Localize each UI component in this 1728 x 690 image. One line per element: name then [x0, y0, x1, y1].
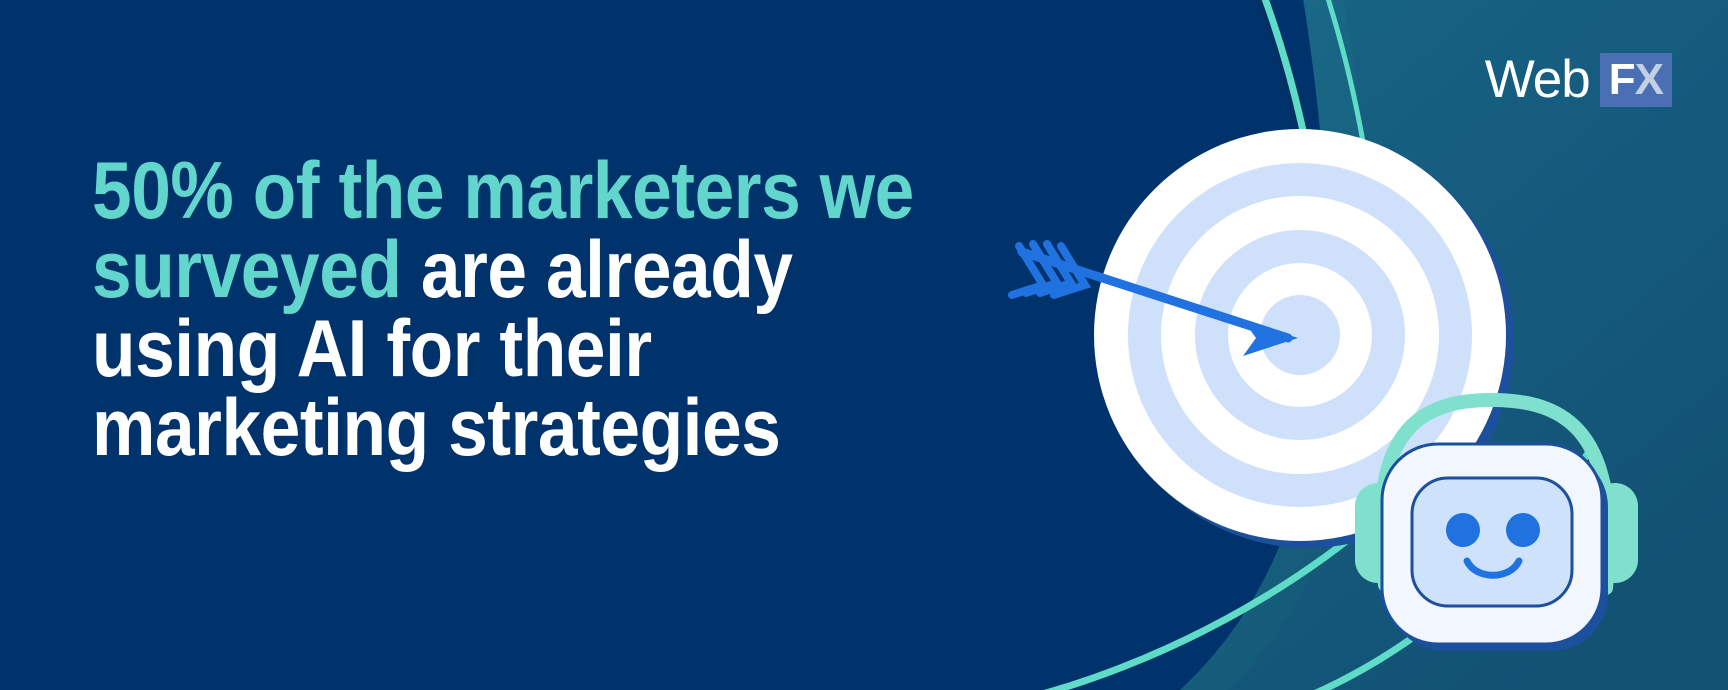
robot-eye-left	[1446, 513, 1480, 547]
logo-web-text: Web	[1485, 52, 1590, 108]
headline: 50% of the marketers we surveyed are alr…	[92, 152, 937, 468]
logo-fx-box: FX	[1600, 53, 1672, 107]
logo-f-glyph: F	[1609, 55, 1635, 104]
logo-fx-text: FX	[1609, 56, 1663, 103]
robot-face-screen	[1412, 478, 1572, 606]
robot-eye-right	[1506, 513, 1540, 547]
logo-x-glyph: X	[1635, 55, 1663, 104]
promo-banner: 50% of the marketers we surveyed are alr…	[0, 0, 1728, 690]
webfx-logo[interactable]: Web FX	[1485, 52, 1672, 108]
